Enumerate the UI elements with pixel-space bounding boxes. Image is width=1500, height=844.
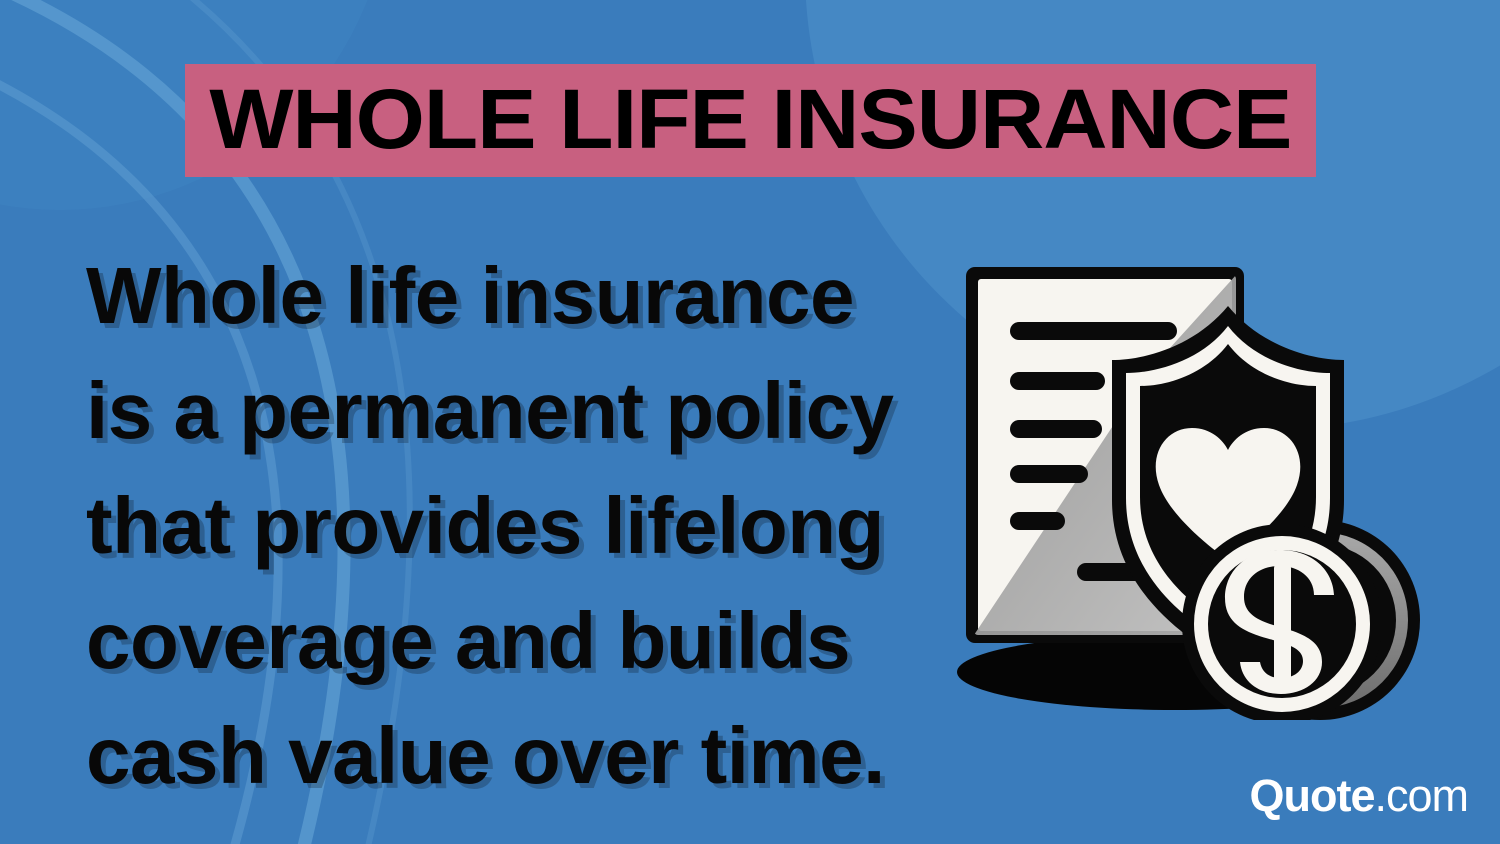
body-copy: Whole life insurance is a permanent poli…	[86, 238, 906, 813]
title-banner: WHOLE LIFE INSURANCE	[185, 64, 1316, 177]
coin-icon	[1182, 524, 1382, 720]
insurance-illustration	[940, 250, 1440, 720]
body-line-1: Whole life insurance	[86, 238, 906, 353]
body-line-3: that provides lifelong	[86, 468, 906, 583]
poster-canvas: WHOLE LIFE INSURANCE Whole life insuranc…	[0, 0, 1500, 844]
body-line-2: is a permanent policy	[86, 353, 906, 468]
logo-suffix: .com	[1374, 770, 1468, 822]
body-line-4: coverage and builds	[86, 583, 906, 698]
page-title: WHOLE LIFE INSURANCE	[210, 77, 1292, 165]
body-line-5: cash value over time.	[86, 698, 906, 813]
logo-brand: Quote	[1249, 770, 1374, 822]
quote-dot-com-logo[interactable]: Quote .com	[1249, 770, 1468, 822]
